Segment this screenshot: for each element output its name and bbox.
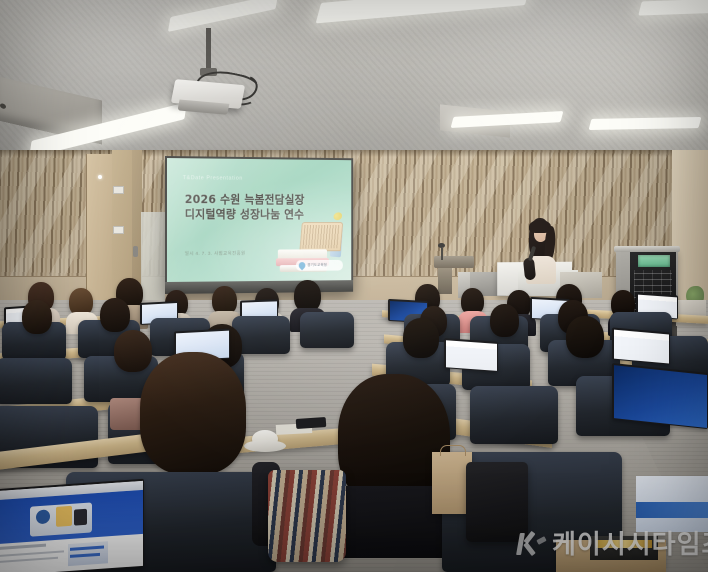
attendee xyxy=(560,316,610,366)
microphone-stand xyxy=(441,248,443,260)
equipment-panel xyxy=(636,476,708,532)
black-bag xyxy=(466,462,528,542)
ceiling-shading xyxy=(0,0,708,172)
photo-scene: T&Date Presentation 2026 수원 늑봄전담실장 디지털역량… xyxy=(0,0,708,572)
wall-switch-plate xyxy=(113,226,124,234)
presenter xyxy=(520,218,560,280)
smartphone xyxy=(296,417,327,429)
attendee-head xyxy=(403,318,439,358)
attendee-head xyxy=(140,352,246,474)
page-text-line xyxy=(0,543,46,549)
page-text-line xyxy=(0,550,64,556)
av-rack-display xyxy=(638,255,670,267)
ceiling-projector xyxy=(171,79,245,109)
slide-subtitle: 일시 4. 7. 3. 사범교육진흥원 xyxy=(185,251,246,257)
illustration-figure xyxy=(36,509,50,524)
wall-indicator-light xyxy=(98,175,102,179)
chair-back xyxy=(470,386,558,444)
chair xyxy=(470,386,558,444)
microphone-icon xyxy=(438,243,445,248)
attendee xyxy=(18,300,58,340)
slide-org-logo: 경기도교육청 xyxy=(296,260,343,271)
laptop-foreground xyxy=(0,479,144,572)
laptop-screen-windows-wallpaper xyxy=(614,365,707,428)
projection-screen: T&Date Presentation 2026 수원 늑봄전담실장 디지털역량… xyxy=(165,156,353,294)
attendee xyxy=(486,304,524,344)
chair xyxy=(300,312,354,348)
slide-title-line1: 2026 수원 늑봄전담실장 xyxy=(185,192,346,208)
chair-back xyxy=(300,312,354,348)
slide-org-logo-text: 경기도교육청 xyxy=(307,263,327,268)
laptop xyxy=(612,363,708,429)
laptop-screen-webpage xyxy=(0,480,143,572)
slide-kicker-text: T&Date Presentation xyxy=(183,175,243,181)
page-text-line xyxy=(0,556,58,562)
illustration-figure xyxy=(74,508,87,525)
attendee-head xyxy=(22,300,52,334)
attendee-head xyxy=(100,298,130,332)
projected-slide: T&Date Presentation 2026 수원 늑봄전담실장 디지털역량… xyxy=(167,158,351,282)
open-book-icon xyxy=(299,222,343,251)
attendee-head xyxy=(566,316,604,358)
slide-books-illustration: 경기도교육청 xyxy=(272,210,346,275)
laptop-screen xyxy=(446,340,497,371)
wall-switch-plate xyxy=(113,186,124,194)
wooden-lectern xyxy=(434,256,474,268)
butterfly-icon xyxy=(334,212,342,220)
leaf-icon xyxy=(297,261,306,271)
ceiling-light-panel xyxy=(589,117,702,130)
chair-back xyxy=(0,358,72,404)
patterned-backpack xyxy=(268,470,346,562)
laptop-screen xyxy=(614,329,669,363)
attendee xyxy=(398,318,446,366)
laptop xyxy=(444,338,498,372)
illustration-figure xyxy=(56,505,72,526)
attendee-head xyxy=(490,304,519,337)
ceiling xyxy=(0,0,708,172)
presenter-arm xyxy=(523,257,536,280)
box-contents-item xyxy=(596,540,652,548)
chair xyxy=(0,358,72,404)
door-knob xyxy=(133,246,138,257)
ceiling-light-panel xyxy=(638,0,708,16)
laptop xyxy=(612,327,670,364)
